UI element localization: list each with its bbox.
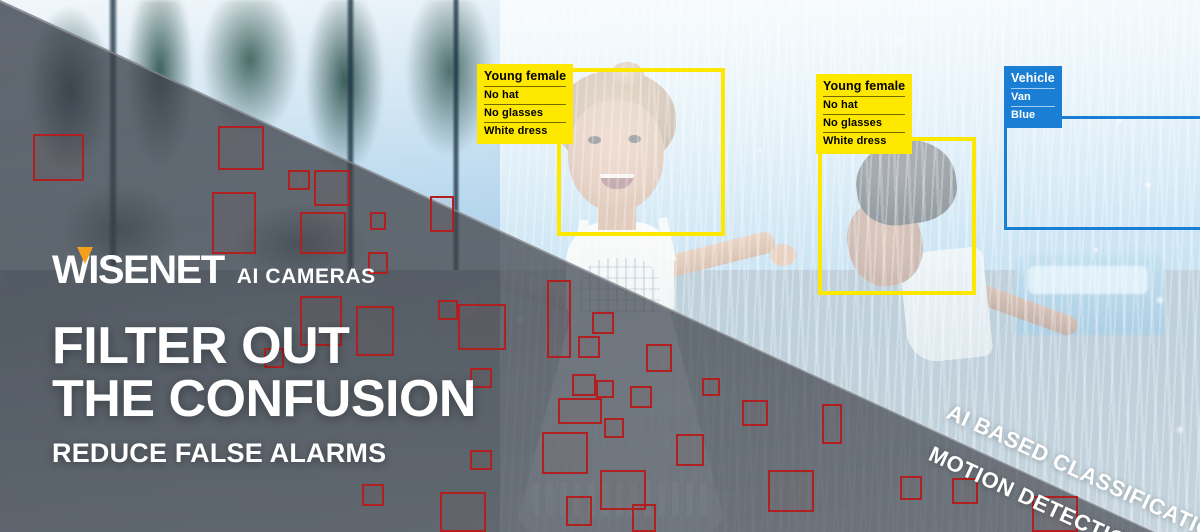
- detection-attribute: No glasses: [823, 114, 905, 132]
- detection-class: Vehicle: [1011, 69, 1055, 88]
- wisenet-logo-isenet: ISENET: [88, 248, 223, 292]
- brand-lockup: WISENET AI CAMERAS: [52, 250, 376, 290]
- detection-attribute: No glasses: [484, 104, 566, 122]
- detection-attribute: No hat: [823, 96, 905, 114]
- detection-box-person-1[interactable]: [557, 68, 725, 236]
- detection-class: Young female: [484, 67, 566, 86]
- brand-subtitle: AI CAMERAS: [237, 266, 376, 290]
- orange-triangle-icon: [77, 247, 93, 264]
- detection-attribute: No hat: [484, 86, 566, 104]
- detection-box-vehicle-1[interactable]: [1004, 116, 1200, 230]
- headline-line-2: THE CONFUSION: [52, 373, 476, 426]
- detection-label-vehicle-1: VehicleVanBlue: [1004, 66, 1062, 128]
- detection-label-person-2: Young femaleNo hatNo glassesWhite dress: [816, 74, 912, 154]
- detection-attribute: Van: [1011, 88, 1055, 106]
- headline-line-1: FILTER OUT: [52, 320, 476, 373]
- detection-class: Young female: [823, 77, 905, 96]
- detection-attribute: White dress: [484, 122, 566, 140]
- wisenet-ai-cameras-banner: Young femaleNo hatNo glassesWhite dressY…: [0, 0, 1200, 532]
- page-title: FILTER OUT THE CONFUSION: [52, 320, 476, 426]
- detection-attribute: Blue: [1011, 106, 1055, 124]
- wisenet-logo: WISENET: [52, 250, 224, 290]
- detection-label-person-1: Young femaleNo hatNo glassesWhite dress: [477, 64, 573, 144]
- detection-box-person-2[interactable]: [818, 137, 976, 295]
- page-subtitle: REDUCE FALSE ALARMS: [52, 438, 386, 469]
- detection-attribute: White dress: [823, 132, 905, 150]
